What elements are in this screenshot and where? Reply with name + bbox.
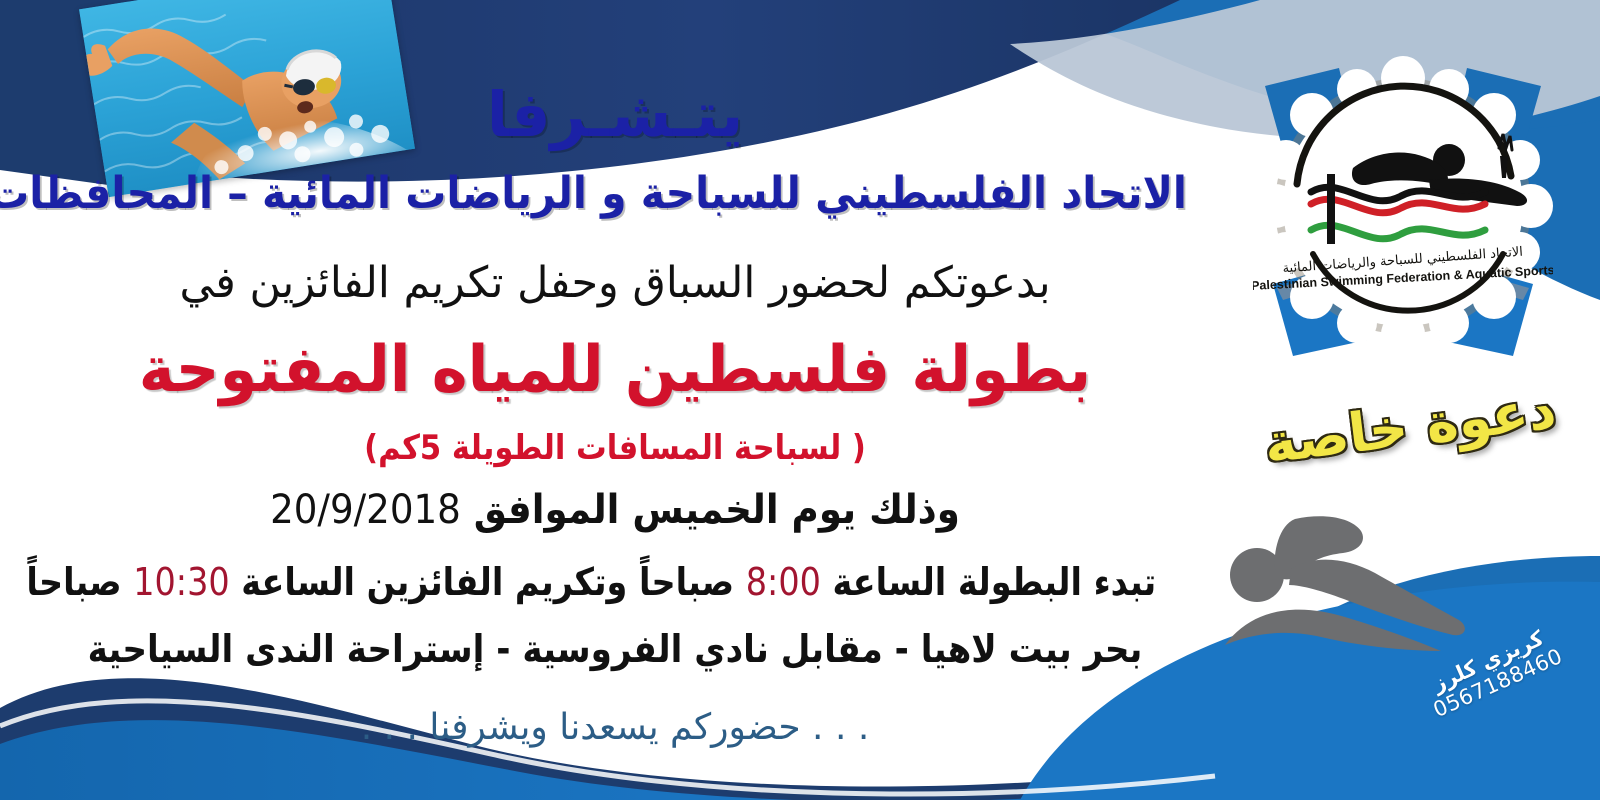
- federation-logo: الاتحاد الفلسطيني للسباحة والرياضات الما…: [1253, 56, 1553, 356]
- event-date-line: وذلك يوم الخميس الموافق 20/9/2018: [43, 487, 1187, 533]
- schedule-part-2: صباحاً وتكريم الفائزين الساعة: [241, 560, 734, 604]
- date-value: 20/9/2018: [270, 487, 461, 533]
- invitation-poster: الاتحاد الفلسطيني للسباحة والرياضات الما…: [0, 0, 1600, 800]
- federation-logo-art: الاتحاد الفلسطيني للسباحة والرياضات الما…: [1253, 56, 1553, 356]
- poster-text-content: يتـشـرفا الاتحاد الفلسطيني للسباحة و الر…: [0, 0, 1230, 800]
- schedule-start-time: 8:00: [746, 560, 821, 604]
- event-title: بطولة فلسطين للمياه المفتوحة: [31, 333, 1200, 407]
- invitation-sentence: بدعوتكم لحضور السباق وحفل تكريم الفائزين…: [0, 258, 1230, 308]
- schedule-part-3: صباحاً: [26, 560, 121, 604]
- event-subtitle: ( لسباحة المسافات الطويلة 5كم): [62, 428, 1169, 468]
- organizer-name: الاتحاد الفلسطيني للسباحة و الرياضات الم…: [43, 168, 1187, 219]
- schedule-part-1: تبدء البطولة الساعة: [833, 560, 1157, 604]
- event-venue: بحر بيت لاهيا - مقابل نادي الفروسية - إس…: [62, 627, 1169, 671]
- header-honor-text: يتـشـرفا: [0, 78, 1230, 151]
- date-prefix-text: وذلك يوم الخميس الموافق: [474, 487, 960, 533]
- event-schedule-line: تبدء البطولة الساعة 8:00 صباحاً وتكريم ا…: [74, 560, 1156, 604]
- closing-message: . . . حضوركم يسعدنا ويشرفنا . . .: [0, 707, 1230, 748]
- special-invite-badge: دعوة خاصة: [1247, 376, 1572, 478]
- schedule-award-time: 10:30: [133, 560, 229, 604]
